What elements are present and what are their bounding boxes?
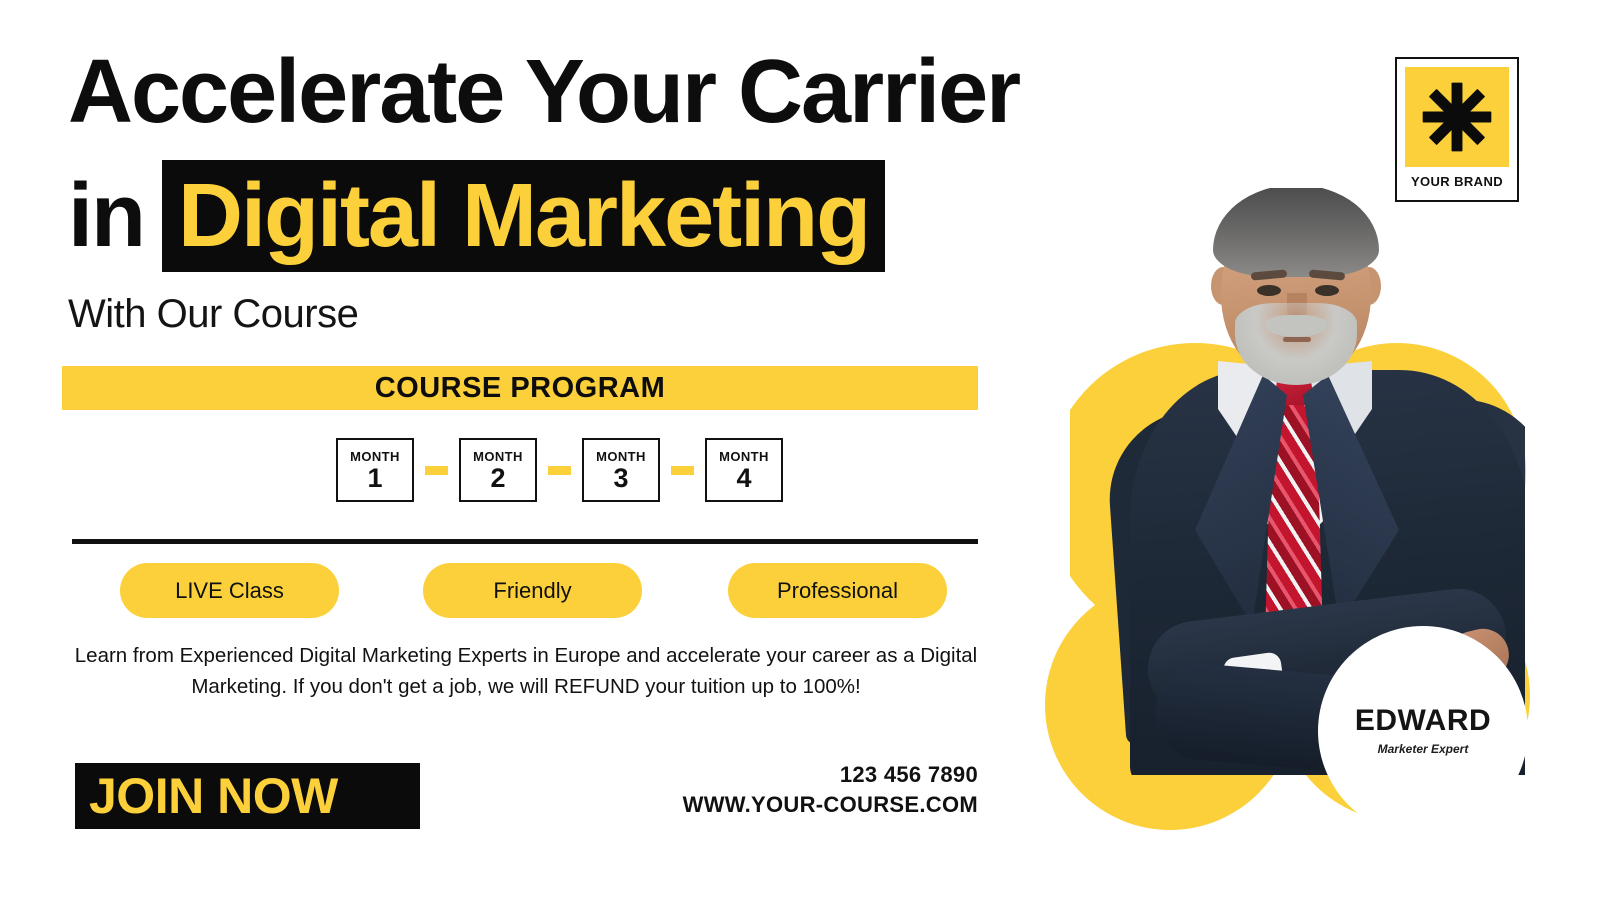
month-number: 1 (367, 465, 382, 492)
mouth (1283, 337, 1311, 342)
subheadline: With Our Course (68, 292, 358, 337)
photo-edge-mask (1030, 175, 1070, 595)
eye-right (1315, 285, 1339, 296)
contact-phone[interactable]: 123 456 7890 (683, 762, 978, 788)
month-label: MONTH (473, 449, 523, 464)
hair (1213, 185, 1379, 277)
timeline-dash-icon (548, 466, 571, 475)
feature-pills: LIVE Class Friendly Professional (120, 563, 947, 618)
presenter-badge: EDWARD Marketer Expert (1318, 626, 1528, 836)
body-copy: Learn from Experienced Digital Marketing… (70, 640, 982, 702)
mustache (1265, 315, 1327, 337)
asterisk-star-icon (1405, 67, 1509, 167)
month-number: 4 (736, 465, 751, 492)
headline-line-1: Accelerate Your Carrier (68, 47, 1019, 137)
contact-website[interactable]: WWW.YOUR-COURSE.COM (683, 792, 978, 818)
headline-prefix: in (68, 171, 144, 261)
month-box: MONTH 2 (459, 438, 537, 502)
headline-line-2: in Digital Marketing (68, 160, 885, 272)
month-label: MONTH (350, 449, 400, 464)
program-timeline: MONTH 1 MONTH 2 MONTH 3 MONTH 4 (336, 438, 783, 502)
eye-left (1257, 285, 1281, 296)
timeline-dash-icon (671, 466, 694, 475)
feature-pill-friendly[interactable]: Friendly (423, 563, 642, 618)
month-label: MONTH (719, 449, 769, 464)
feature-pill-live-class[interactable]: LIVE Class (120, 563, 339, 618)
month-label: MONTH (596, 449, 646, 464)
month-box: MONTH 3 (582, 438, 660, 502)
join-now-button[interactable]: JOIN NOW (75, 763, 420, 829)
course-program-banner: COURSE PROGRAM (62, 366, 978, 410)
brand-logo[interactable]: YOUR BRAND (1395, 57, 1519, 202)
timeline-dash-icon (425, 466, 448, 475)
headline-highlight: Digital Marketing (162, 160, 885, 272)
month-box: MONTH 4 (705, 438, 783, 502)
join-now-label: JOIN NOW (89, 767, 338, 825)
presenter-name: EDWARD (1355, 706, 1491, 736)
month-box: MONTH 1 (336, 438, 414, 502)
brand-name: YOUR BRAND (1411, 174, 1503, 189)
feature-pill-professional[interactable]: Professional (728, 563, 947, 618)
month-number: 3 (613, 465, 628, 492)
contact-block: 123 456 7890 WWW.YOUR-COURSE.COM (683, 762, 978, 818)
section-divider (72, 539, 978, 544)
marketing-banner: EDWARD Marketer Expert YOUR BRAND Accele… (0, 0, 1600, 900)
month-number: 2 (490, 465, 505, 492)
course-program-label: COURSE PROGRAM (375, 372, 666, 405)
presenter-role: Marketer Expert (1378, 742, 1469, 756)
